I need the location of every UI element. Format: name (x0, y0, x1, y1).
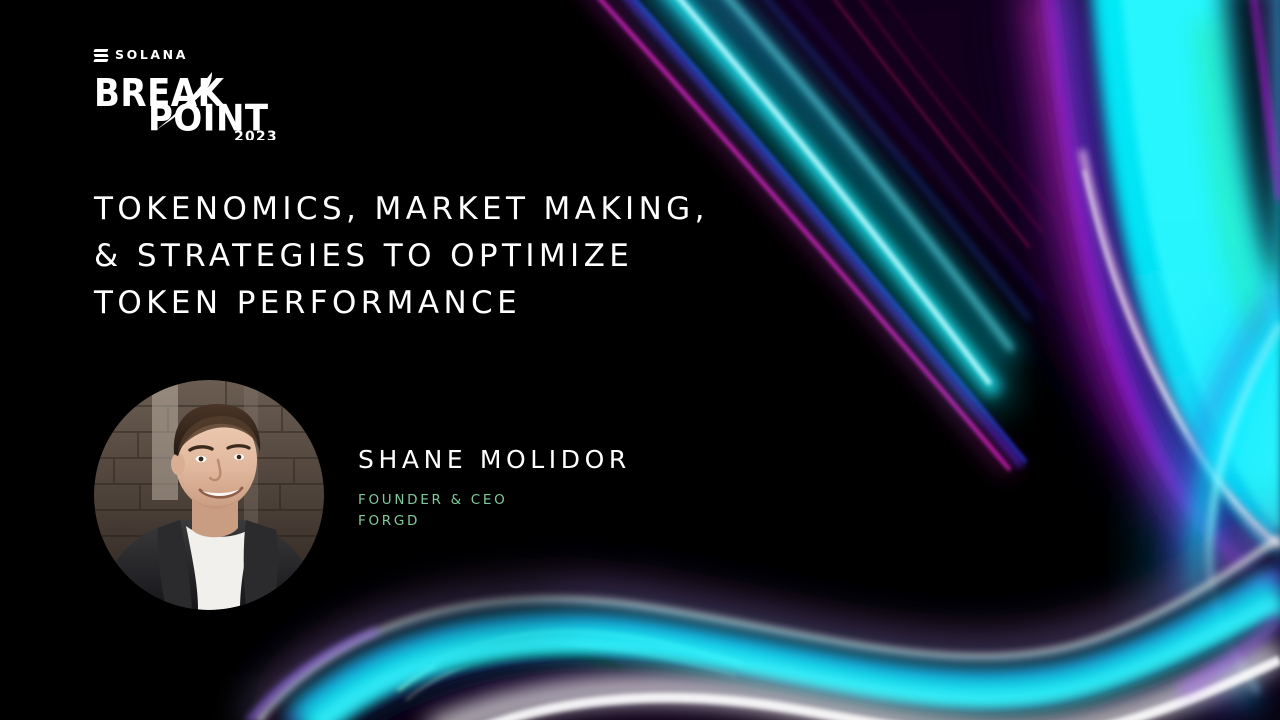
breakpoint-wordmark: BREAK POINT 2023 (94, 68, 294, 140)
solana-wordmark: SOLANA (115, 49, 188, 62)
neon-cyan-lobe (1028, 0, 1280, 614)
speaker-company: FORGD (358, 511, 631, 532)
presentation-slide: SOLANA BREAK POINT 2023 TOKENOMICS, MARK… (0, 0, 1280, 720)
talk-title: TOKENOMICS, MARKET MAKING, & STRATEGIES … (94, 186, 884, 327)
avatar (94, 380, 324, 610)
speaker-block: SHANE MOLIDOR FOUNDER & CEO FORGD (94, 380, 714, 612)
breakpoint-year-text: 2023 (234, 129, 278, 140)
speaker-role: FOUNDER & CEO (358, 490, 631, 511)
speaker-text: SHANE MOLIDOR FOUNDER & CEO FORGD (358, 380, 631, 532)
solana-logo: SOLANA (94, 48, 294, 62)
speaker-headshot-image (94, 380, 324, 610)
neon-right-sweep (1175, 292, 1280, 720)
solana-bars-icon (94, 49, 108, 62)
breakpoint-logo: SOLANA BREAK POINT 2023 (94, 48, 294, 140)
speaker-name: SHANE MOLIDOR (358, 446, 631, 474)
